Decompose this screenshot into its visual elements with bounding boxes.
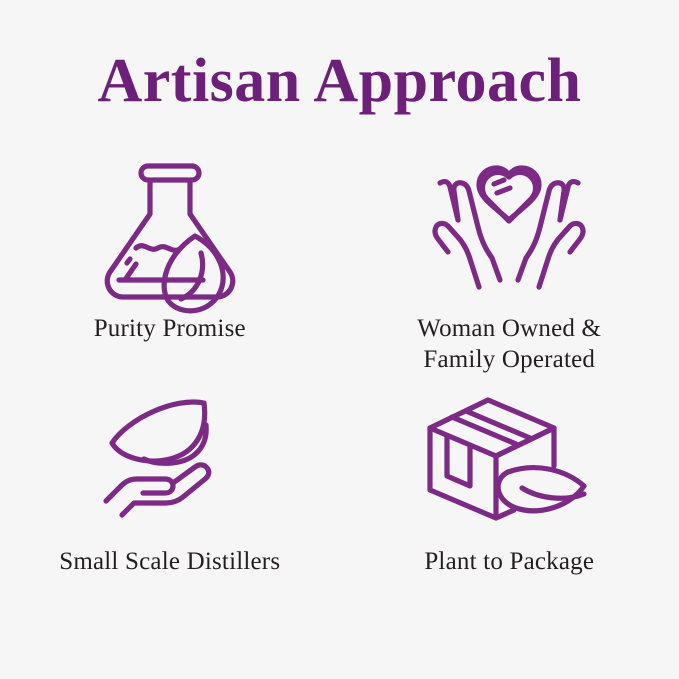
feature-item-purity-promise: Purity Promise xyxy=(0,152,340,384)
feature-label-line: Family Operated xyxy=(417,345,601,376)
feature-label-line: Woman Owned & xyxy=(417,314,601,345)
feature-grid: Purity Promise xyxy=(0,152,679,616)
feature-label-line: Purity Promise xyxy=(94,314,246,345)
page-title: Artisan Approach xyxy=(98,50,582,112)
feature-label-purity-promise: Purity Promise xyxy=(94,314,246,345)
feature-item-small-scale-distillers: Small Scale Distillers xyxy=(0,384,340,616)
feature-label-line: Plant to Package xyxy=(424,547,594,578)
feature-label-woman-owned: Woman Owned & Family Operated xyxy=(417,314,601,375)
feature-label-plant-to-package: Plant to Package xyxy=(424,547,594,578)
feature-label-line: Small Scale Distillers xyxy=(59,547,280,578)
feature-item-plant-to-package: Plant to Package xyxy=(340,384,679,616)
leaf-in-hand-icon xyxy=(100,384,240,529)
artisan-approach-infographic: Artisan Approach xyxy=(0,0,679,679)
hands-heart-icon xyxy=(424,152,594,302)
feature-label-small-scale-distillers: Small Scale Distillers xyxy=(59,547,280,578)
box-leaf-icon xyxy=(422,384,597,529)
feature-item-woman-owned: Woman Owned & Family Operated xyxy=(340,152,679,384)
flask-leaf-icon xyxy=(100,152,240,302)
